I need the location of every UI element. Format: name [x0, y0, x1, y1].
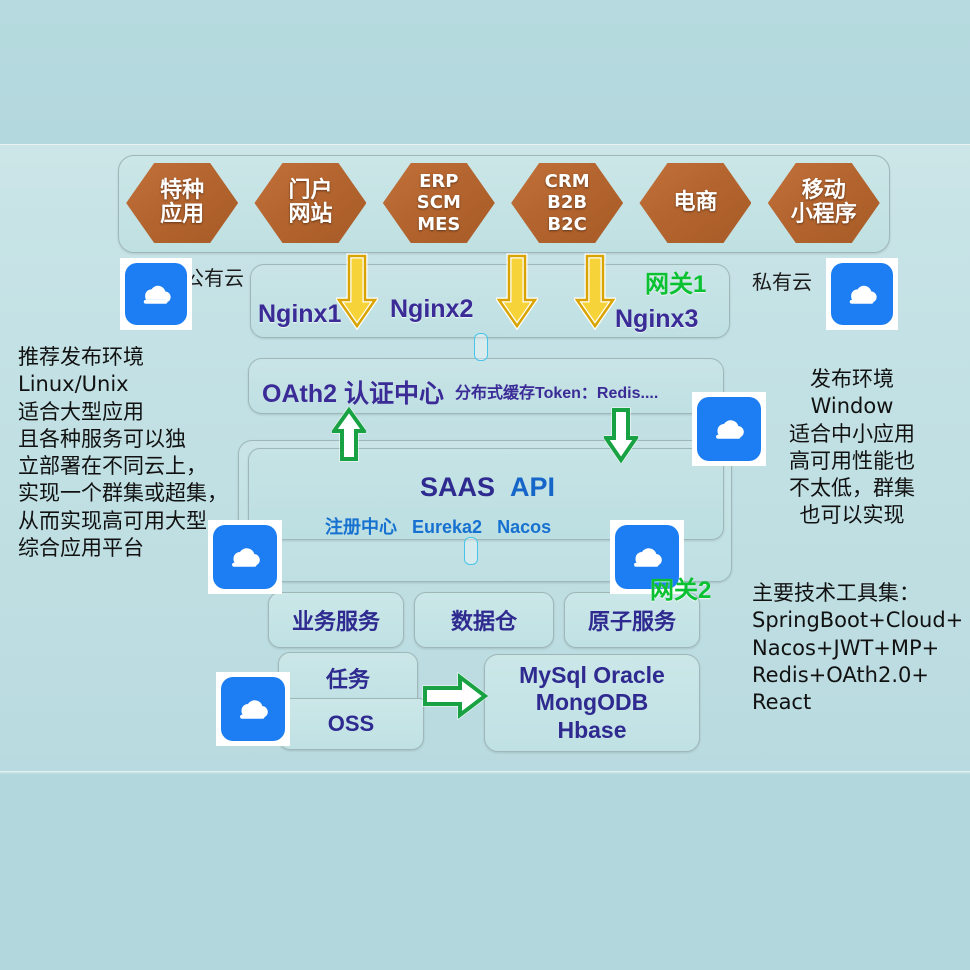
- db-line-2: MongODB: [536, 689, 648, 716]
- application-hexagon-row: 特种应用 门户网站 ERPSCMMES CRMB2BB2C 电商 移动小程序: [118, 162, 888, 244]
- app-hex-crm[interactable]: CRMB2BB2C: [511, 163, 623, 243]
- arrow-down-yellow-icon: [496, 252, 538, 330]
- app-hex-portal[interactable]: 门户网站: [254, 163, 366, 243]
- arrow-down-green-icon: [604, 407, 638, 463]
- architecture-diagram: 特种应用 门户网站 ERPSCMMES CRMB2BB2C 电商 移动小程序 N…: [0, 0, 970, 970]
- cloud-icon: [826, 258, 898, 330]
- cloud-icon: [120, 258, 192, 330]
- app-hex-erp[interactable]: ERPSCMMES: [383, 163, 495, 243]
- database-box[interactable]: MySql Oracle MongODB Hbase: [484, 654, 700, 752]
- app-hex-special[interactable]: 特种应用: [126, 163, 238, 243]
- app-hex-mobile[interactable]: 移动小程序: [768, 163, 880, 243]
- app-hex-ecommerce[interactable]: 电商: [639, 163, 751, 243]
- registry-label: 注册中心: [325, 517, 397, 537]
- gateway1-label: 网关1: [645, 264, 706, 299]
- cloud-icon: [692, 392, 766, 466]
- service-box-task[interactable]: 任务: [278, 652, 418, 704]
- service-box-datawarehouse[interactable]: 数据仓: [414, 592, 554, 648]
- tech-stack-note: 主要技术工具集： SpringBoot+Cloud+ Nacos+JWT+MP+…: [752, 580, 967, 716]
- registry-row: 注册中心 Eureka2 Nacos: [325, 513, 551, 539]
- private-cloud-label: 私有云: [752, 266, 812, 295]
- cloud-icon: [216, 672, 290, 746]
- nginx3-label[interactable]: Nginx3: [615, 305, 698, 334]
- arrow-down-yellow-icon: [336, 252, 378, 330]
- nacos-label: Nacos: [497, 517, 551, 537]
- eureka-label: Eureka2: [412, 517, 482, 537]
- arrow-up-green-icon: [332, 407, 366, 463]
- db-line-1: MySql Oracle: [519, 662, 665, 689]
- oauth-title: OAth2 认证中心: [262, 374, 444, 410]
- nginx1-label[interactable]: Nginx1: [258, 300, 341, 329]
- cloud-icon: [208, 520, 282, 594]
- left-note-text: 推荐发布环境 Linux/Unix 适合大型应用 且各种服务可以独 立部署在不同…: [18, 344, 238, 562]
- right-note-text: 发布环境 Window 适合中小应用 高可用性能也 不太低，群集 也可以实现: [752, 366, 952, 530]
- public-cloud-label: 公有云: [184, 262, 244, 291]
- service-box-oss[interactable]: OSS: [278, 698, 424, 750]
- db-line-3: Hbase: [557, 717, 626, 744]
- nginx2-label[interactable]: Nginx2: [390, 295, 473, 324]
- connector-nub: [464, 537, 478, 565]
- gateway2-label: 网关2: [650, 570, 711, 605]
- connector-nub: [474, 333, 488, 361]
- arrow-down-yellow-icon: [574, 252, 616, 330]
- token-cache-label: 分布式缓存Token：Redis....: [455, 379, 658, 403]
- arrow-right-green-icon: [422, 672, 488, 720]
- service-box-business[interactable]: 业务服务: [268, 592, 404, 648]
- saas-api-title: SAAS API: [420, 472, 555, 503]
